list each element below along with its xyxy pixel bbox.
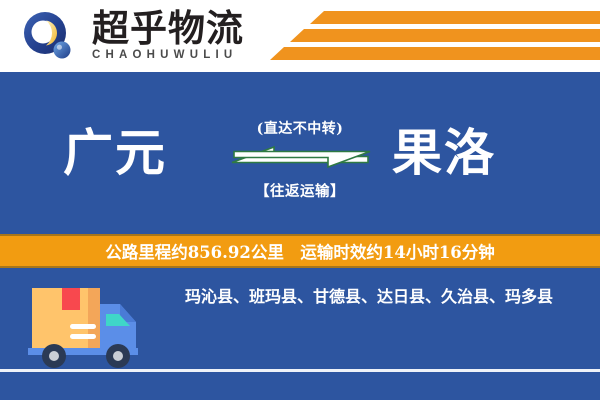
destination-city: 果洛 — [392, 122, 496, 184]
coverage-county-list: 玛沁县、班玛县、甘德县、达日县、久治县、玛多县 — [150, 283, 588, 307]
distance-duration-bar: 公路里程约856.92公里 运输时效约14小时16分钟 — [0, 234, 600, 268]
roundtrip-note: 【往返运输】 — [214, 180, 386, 201]
route-row: 广元 (直达不中转) 【往返运输】 果洛 — [0, 96, 600, 216]
route-center-block: (直达不中转) 【往返运输】 — [214, 96, 386, 216]
header-stripe-2 — [290, 29, 600, 42]
coverage-area-row: 玛沁县、班玛县、甘德县、达日县、久治县、玛多县 — [150, 283, 588, 307]
brand-name-en: CHAOHUWULIU — [92, 49, 282, 61]
origin-city: 广元 — [63, 122, 167, 184]
banner-header: 超乎物流 CHAOHUWULIU — [0, 0, 600, 72]
header-stripe-1 — [310, 11, 600, 24]
bottom-divider — [0, 369, 600, 372]
logistics-route-banner: 超乎物流 CHAOHUWULIU 广元 (直达不中转) 【往返运输】 果洛 — [0, 0, 600, 400]
circle-crescent-logo-icon — [22, 11, 76, 65]
distance-duration-text: 公路里程约856.92公里 运输时效约14小时16分钟 — [105, 239, 495, 263]
direct-shipment-note: (直达不中转) — [214, 118, 386, 138]
brand-lockup: 超乎物流 CHAOHUWULIU — [92, 8, 282, 61]
header-stripe-3 — [270, 47, 600, 60]
delivery-truck-icon — [24, 276, 150, 372]
brand-name-cn: 超乎物流 — [92, 8, 282, 48]
double-headed-arrow-icon — [230, 142, 372, 172]
